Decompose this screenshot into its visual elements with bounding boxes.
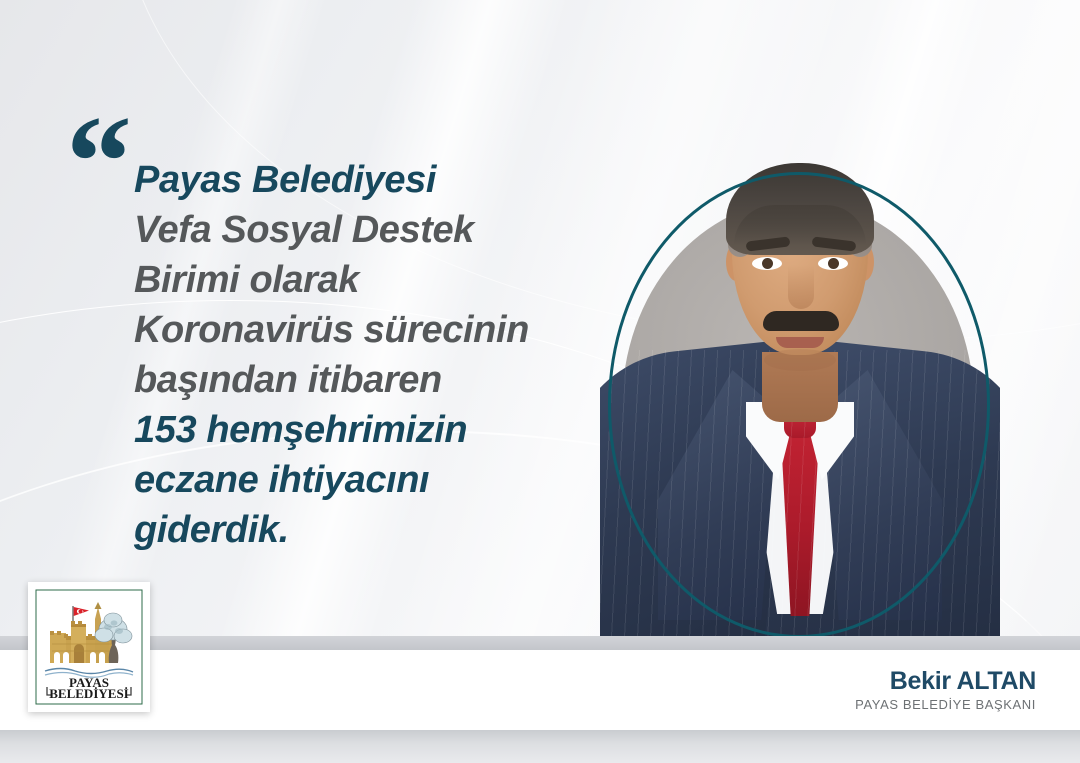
quote-line: Koronavirüs sürecinin	[134, 305, 634, 355]
quote-text: Payas Belediyesi Vefa Sosyal Destek Biri…	[134, 155, 634, 555]
quote-line: eczane ihtiyacını	[134, 455, 634, 505]
quote-open-icon: “	[66, 96, 130, 228]
municipality-logo[interactable]: PAYAS BELEDİYESİ	[28, 582, 150, 712]
payas-belediyesi-crest-icon: PAYAS BELEDİYESİ	[35, 589, 143, 705]
footer-top-divider	[0, 636, 1080, 650]
footer-bottom-band	[0, 730, 1080, 763]
quote-line: Payas Belediyesi	[134, 155, 634, 205]
portrait-ring-outline	[608, 172, 990, 638]
logo-line2: BELEDİYESİ	[49, 686, 128, 701]
quote-line-highlight: 153 hemşehrimizin	[134, 405, 634, 455]
signature-block: Bekir ALTAN PAYAS BELEDİYE BAŞKANI	[855, 668, 1036, 712]
quote-line: Birimi olarak	[134, 255, 634, 305]
signature-title: PAYAS BELEDİYE BAŞKANI	[855, 697, 1036, 712]
signature-name: Bekir ALTAN	[855, 668, 1036, 694]
quote-poster: “ Payas Belediyesi Vefa Sosyal Destek Bi…	[0, 0, 1080, 763]
logo-inner: PAYAS BELEDİYESİ	[35, 589, 143, 705]
quote-line: giderdik.	[134, 505, 634, 555]
quote-line: başından itibaren	[134, 355, 634, 405]
quote-line: Vefa Sosyal Destek	[134, 205, 634, 255]
portrait-group	[600, 160, 1000, 650]
